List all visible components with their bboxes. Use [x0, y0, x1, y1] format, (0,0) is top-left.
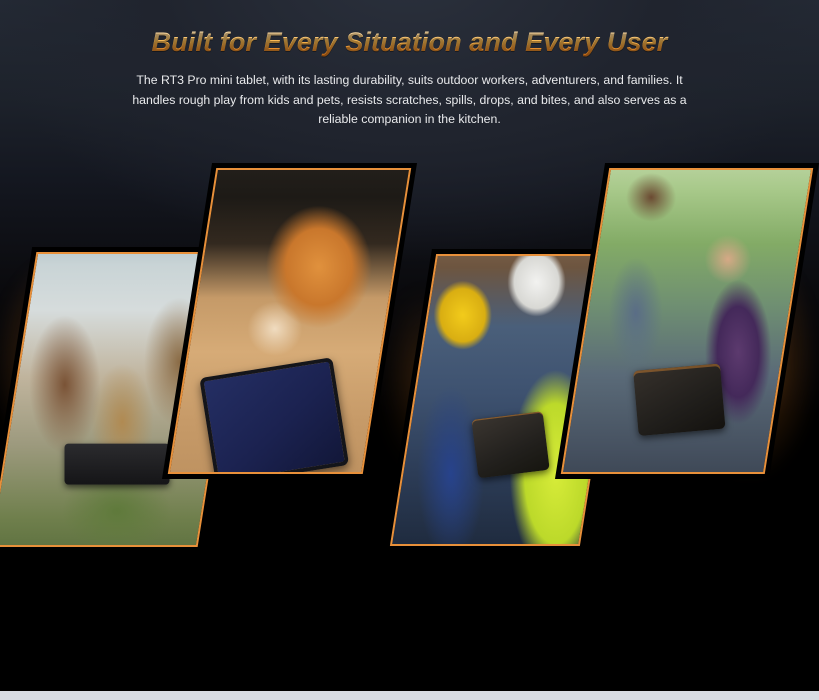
promo-banner: Built for Every Situation and Every User…: [0, 0, 819, 691]
page-bottom-strip: [0, 691, 819, 700]
photo-couple-with-tablet: [563, 170, 811, 472]
panel-cat-clip: [170, 170, 409, 472]
panel-couple: [555, 163, 819, 479]
panel-cat: [162, 163, 417, 479]
panel-couple-clip: [563, 170, 811, 472]
photo-cat-with-tablet: [170, 170, 409, 472]
banner-description: The RT3 Pro mini tablet, with its lastin…: [117, 71, 702, 130]
panel-cat-inner: [170, 170, 409, 472]
banner-header: Built for Every Situation and Every User…: [0, 0, 819, 130]
page-title: Built for Every Situation and Every User: [0, 27, 819, 58]
panel-couple-inner: [563, 170, 811, 472]
